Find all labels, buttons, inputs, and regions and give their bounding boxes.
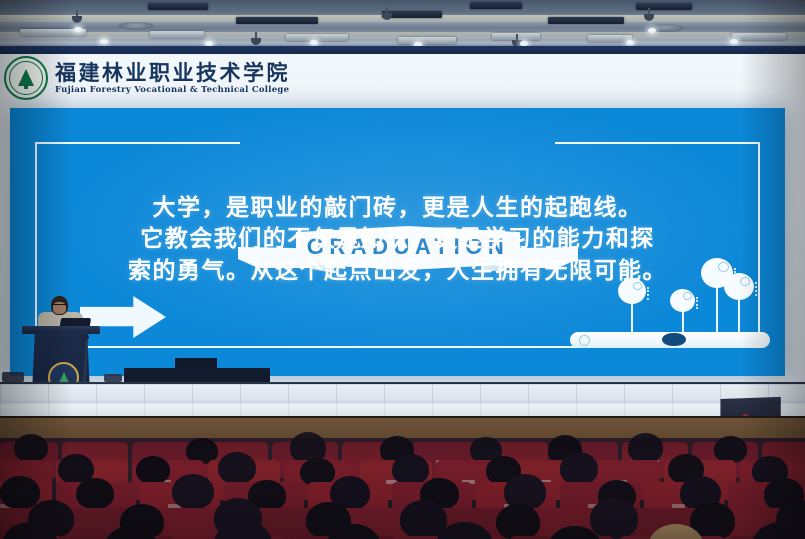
slide-frame-left [35, 142, 37, 348]
pendant-fixture-icon [648, 8, 650, 16]
downlight-icon [100, 39, 108, 44]
college-logo: 福建林业职业技术学院 Fujian Forestry Vocational & … [4, 52, 294, 104]
audience-seating [0, 438, 805, 539]
bar-knob-icon [662, 333, 686, 346]
downlight-icon [310, 40, 318, 45]
air-vent-icon [732, 33, 786, 40]
air-vent-icon [148, 3, 208, 10]
tree-seal-icon [4, 56, 48, 100]
seated-person-icon [714, 436, 747, 463]
slide-frame-top-left [35, 142, 240, 144]
seated-person-icon [496, 504, 540, 539]
glasses-icon [52, 304, 67, 308]
air-vent-icon [548, 17, 624, 24]
downlight-icon [74, 27, 82, 32]
seated-person-icon [172, 474, 214, 509]
air-vent-icon [398, 37, 456, 44]
auditorium-photo: 福建林业职业技术学院 Fujian Forestry Vocational & … [0, 0, 805, 539]
air-vent-icon [636, 3, 692, 10]
air-vent-icon [150, 31, 204, 38]
seated-person-icon [628, 433, 663, 463]
college-name-english: Fujian Forestry Vocational & Technical C… [55, 86, 290, 95]
stage-equipment [104, 374, 122, 382]
pendant-fixture-icon [76, 10, 78, 18]
ceiling [0, 0, 805, 48]
seated-person-icon [76, 478, 114, 509]
microphone-stand-icon [79, 334, 89, 340]
pendant-fixture-icon [386, 7, 388, 15]
pendant-fixture-icon [118, 22, 154, 30]
dandelion-puff-icon [670, 289, 695, 312]
slide-frame-right [758, 142, 760, 348]
downlight-icon [648, 28, 656, 33]
dandelion-puff-icon [618, 278, 646, 304]
slide-body-text: 大学，是职业的敲门砖，更是人生的起跑线。 它教会我们的不仅是知识，更是学习的能力… [70, 193, 725, 287]
dandelion-puff-icon [724, 273, 754, 300]
seated-person-icon [218, 452, 256, 484]
seated-person-icon [392, 454, 429, 485]
slide-body-line-2: 它教会我们的不仅是知识，更是学习的能力和探 [70, 224, 725, 255]
downlight-icon [626, 40, 634, 45]
downlight-icon [730, 39, 738, 44]
air-vent-icon [236, 17, 318, 24]
seated-person-icon [590, 498, 638, 539]
air-vent-icon [470, 2, 522, 9]
stage-equipment [2, 372, 24, 382]
seated-person-icon [14, 434, 48, 462]
slide-frame-top-right [555, 142, 760, 144]
projection-slide: GRADUATION 大学，是职业的敲门砖，更是人生的起跑线。 它教会我们的不仅… [10, 108, 785, 376]
college-name-chinese: 福建林业职业技术学院 [55, 62, 290, 83]
pendant-fixture-icon [255, 32, 257, 40]
seated-person-icon [0, 476, 40, 509]
pendant-fixture-icon [516, 34, 518, 42]
seated-person-icon [136, 456, 170, 484]
slide-body-line-1: 大学，是职业的敲门砖，更是人生的起跑线。 [70, 193, 725, 224]
seated-person-icon [560, 452, 598, 485]
